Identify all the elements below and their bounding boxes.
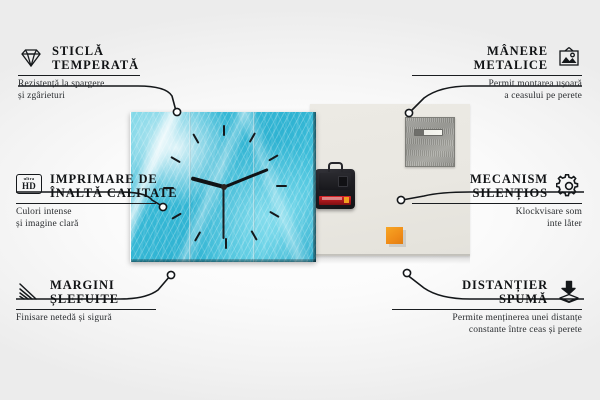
feature-header: ultra HD IMPRIMARE DE ÎNALTĂ CALITATE bbox=[16, 172, 216, 200]
feature-rule bbox=[412, 203, 582, 204]
feature-subtitle-2: și zgârieturi bbox=[18, 91, 218, 103]
feature-manere-metalice: MÂNERE METALICE Permit montarea ușoară a… bbox=[382, 44, 582, 102]
feature-subtitle-1: Culori intense bbox=[16, 207, 216, 219]
glass-edge-right bbox=[313, 112, 316, 262]
feature-header: DISTANȚIER SPUMĂ bbox=[362, 278, 582, 306]
feature-title: MARGINI ȘLEFUITE bbox=[50, 278, 119, 306]
feature-rule bbox=[392, 309, 582, 310]
battery bbox=[319, 196, 351, 205]
clock-mechanism bbox=[315, 169, 355, 209]
hanger-keyhole-slot bbox=[414, 129, 443, 136]
feature-title: DISTANȚIER SPUMĂ bbox=[462, 278, 548, 306]
feature-header: STICLĂ TEMPERATĂ bbox=[18, 44, 218, 72]
feature-subtitle-2: constante între ceas și perete bbox=[362, 325, 582, 337]
battery-label bbox=[322, 197, 342, 200]
feature-subtitle-2: a ceasului pe perete bbox=[382, 91, 582, 103]
feature-subtitle-1: Permit montarea ușoară bbox=[382, 79, 582, 91]
foam-spacer-icon bbox=[556, 280, 582, 304]
clock-center-pin bbox=[221, 184, 227, 190]
feature-header: MÂNERE METALICE bbox=[382, 44, 582, 72]
feature-sticla-temperata: STICLĂ TEMPERATĂ Rezistență la spargere … bbox=[18, 44, 218, 102]
mechanism-hanging-loop bbox=[328, 162, 343, 172]
feature-subtitle-2: și imagine clară bbox=[16, 219, 216, 231]
infographic-canvas: STICLĂ TEMPERATĂ Rezistență la spargere … bbox=[0, 0, 600, 400]
feature-rule bbox=[16, 203, 156, 204]
diamond-icon bbox=[18, 46, 44, 70]
ultra-hd-icon: ultra HD bbox=[16, 174, 42, 198]
feature-distantier-spuma: DISTANȚIER SPUMĂ Permite menținerea unei… bbox=[362, 278, 582, 336]
feature-margini-slefuite: MARGINI ȘLEFUITE Finisare netedă și sigu… bbox=[16, 278, 216, 325]
mechanism-body bbox=[319, 173, 351, 190]
feature-subtitle-1: Permite menținerea unei distanțe bbox=[362, 313, 582, 325]
feature-imprimare-hd: ultra HD IMPRIMARE DE ÎNALTĂ CALITATE Cu… bbox=[16, 172, 216, 230]
feature-subtitle-1: Rezistență la spargere bbox=[18, 79, 218, 91]
metal-hanger-plate bbox=[405, 117, 455, 167]
feature-header: MECANISM SILENȚIOS bbox=[382, 172, 582, 200]
feature-subtitle-2: inte låter bbox=[382, 219, 582, 231]
gear-icon bbox=[556, 174, 582, 198]
feature-mecanism-silentios: MECANISM SILENȚIOS Klockvisare som inte … bbox=[382, 172, 582, 230]
picture-hanger-icon bbox=[556, 46, 582, 70]
feature-rule bbox=[412, 75, 582, 76]
feature-subtitle-1: Klockvisare som bbox=[382, 207, 582, 219]
feature-rule bbox=[18, 75, 140, 76]
glass-edge-bottom bbox=[131, 259, 316, 262]
back-panel-shadow bbox=[310, 254, 470, 264]
feature-subtitle-1: Finisare netedă și sigură bbox=[16, 313, 216, 325]
feature-rule bbox=[16, 309, 156, 310]
feature-title: IMPRIMARE DE ÎNALTĂ CALITATE bbox=[50, 172, 178, 200]
feature-title: MECANISM SILENȚIOS bbox=[470, 172, 548, 200]
feature-title: STICLĂ TEMPERATĂ bbox=[52, 44, 139, 72]
hd-label: HD bbox=[22, 182, 36, 191]
feature-header: MARGINI ȘLEFUITE bbox=[16, 278, 216, 306]
feature-title: MÂNERE METALICE bbox=[474, 44, 548, 72]
polished-edges-icon bbox=[16, 280, 42, 304]
